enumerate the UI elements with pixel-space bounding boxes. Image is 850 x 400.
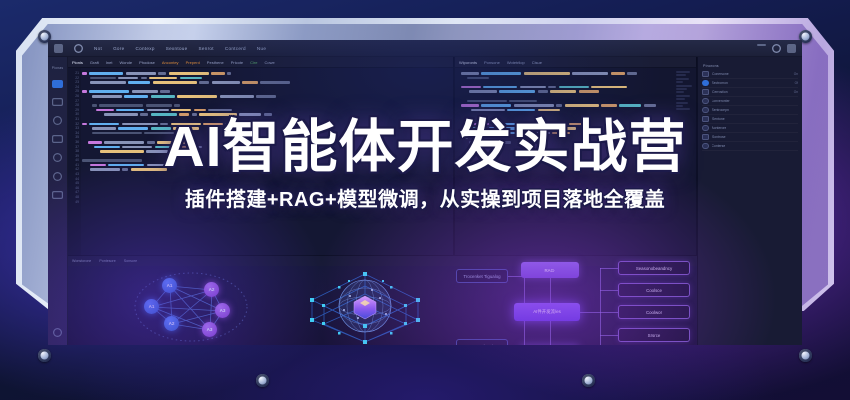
toolbar-item[interactable]: Not bbox=[94, 46, 102, 51]
flow-node-label: Coolwor bbox=[646, 310, 662, 315]
property-label: Lonveronter bbox=[712, 99, 730, 103]
toolbar-item[interactable]: Gore bbox=[113, 46, 124, 51]
flow-connector bbox=[550, 278, 551, 304]
explorer-icon[interactable] bbox=[52, 80, 63, 88]
graph-node[interactable]: A3 bbox=[215, 303, 230, 318]
page-subtitle: 插件搭建+RAG+模型微调，从实操到项目落地全覆盖 bbox=[0, 183, 850, 212]
toolbar-item[interactable]: Sexntoue bbox=[166, 46, 188, 51]
flow-connector bbox=[600, 268, 618, 269]
properties-header: Pinorons bbox=[703, 64, 798, 68]
promo-headline: AI智能体开发实战营 插件搭建+RAG+模型微调，从实操到项目落地全覆盖 bbox=[0, 118, 850, 212]
flow-node-label: RAG· bbox=[545, 268, 556, 273]
flow-node-label: Qe3 Ponbustion bbox=[466, 344, 498, 346]
cube-graphic bbox=[300, 266, 430, 345]
settings-gear-icon[interactable] bbox=[53, 328, 62, 337]
editor-tab-bar: Pionis Graft Inet Wonde Phodose Ancontey… bbox=[68, 57, 453, 68]
flow-node-label: Trocenket Tigualog bbox=[463, 274, 500, 279]
editor-tab[interactable]: Pricote bbox=[231, 60, 243, 65]
viz-tab[interactable]: Pontesore bbox=[99, 259, 115, 263]
close-icon[interactable] bbox=[787, 44, 796, 53]
flow-node-right[interactable]: Srsrce bbox=[618, 328, 690, 342]
ide-toolbar: Not Gore Contexp Sexntoue Senrot Contcer… bbox=[48, 40, 802, 57]
page-title: AI智能体开发实战营 bbox=[0, 118, 850, 176]
flow-connector bbox=[578, 312, 600, 313]
property-label: Conersone bbox=[712, 72, 729, 76]
editor-tab[interactable]: Wotetrilop bbox=[507, 60, 525, 65]
editor-tab[interactable]: Inet bbox=[106, 60, 113, 65]
search-icon[interactable] bbox=[52, 98, 63, 106]
graph-node-label: A1 bbox=[149, 304, 155, 309]
flow-node-right[interactable]: Coolwor bbox=[618, 305, 690, 319]
back-arrow-icon[interactable] bbox=[54, 44, 63, 53]
bezel-rivet bbox=[256, 374, 269, 387]
property-row[interactable]: Conersone On bbox=[702, 70, 798, 79]
graph-node-label: A2 bbox=[169, 321, 175, 326]
editor-tab[interactable]: Cisue bbox=[532, 60, 542, 65]
graph-node[interactable]: A2 bbox=[204, 282, 219, 297]
editor-tab[interactable]: Wiporonts bbox=[459, 60, 477, 65]
toolbar-item[interactable]: Nue bbox=[257, 46, 266, 51]
flow-connector bbox=[600, 312, 618, 313]
rail-label: Pionas bbox=[52, 66, 64, 70]
flow-connector bbox=[600, 268, 601, 345]
isometric-cube-visualization bbox=[300, 266, 430, 345]
flow-connector bbox=[550, 321, 551, 345]
editor-tab[interactable]: Pesthene bbox=[207, 60, 224, 65]
graph-node-label: A3 bbox=[220, 308, 226, 313]
flow-node-right[interactable]: Coolsce bbox=[618, 283, 690, 297]
property-row[interactable]: Cerrostion On bbox=[702, 88, 798, 97]
flow-connector bbox=[600, 335, 618, 336]
maximize-icon[interactable] bbox=[772, 44, 781, 53]
flow-connector bbox=[600, 290, 618, 291]
toolbar-item[interactable]: Contcerd bbox=[225, 46, 246, 51]
graph-node[interactable]: A3 bbox=[202, 322, 217, 337]
flow-node-center[interactable]: AI件开发流/es bbox=[514, 303, 580, 321]
flow-node-label: Coolsce bbox=[646, 288, 662, 293]
viz-tab[interactable]: Wonstorone bbox=[72, 259, 91, 263]
property-row[interactable]: Lonveronter bbox=[702, 97, 798, 106]
graph-node[interactable]: A1 bbox=[144, 299, 159, 314]
bezel-rivet bbox=[582, 374, 595, 387]
editor-tab-bar-right: Wiporonts Ponsone Wotetrilop Cisue bbox=[455, 57, 696, 68]
checkbox-icon[interactable] bbox=[702, 98, 709, 105]
property-value: Of bbox=[795, 81, 798, 85]
flow-node-left-bottom[interactable]: Qe3 Ponbustion bbox=[456, 339, 508, 345]
property-value: On bbox=[794, 72, 798, 76]
flow-node-rag[interactable]: RAG· bbox=[521, 262, 579, 278]
agent-network-graph: A1 A2 A3 A3 A2 A1 bbox=[126, 270, 256, 344]
property-label: Sectromon bbox=[712, 81, 728, 85]
property-row[interactable]: Sentrocepn bbox=[702, 106, 798, 115]
graph-node[interactable]: A1 bbox=[162, 278, 177, 293]
graph-node-label: A2 bbox=[209, 287, 215, 292]
editor-tab[interactable]: Cire bbox=[250, 60, 257, 65]
editor-tab[interactable]: Preperd bbox=[186, 60, 200, 65]
editor-tab[interactable]: Wonde bbox=[119, 60, 132, 65]
editor-tab[interactable]: Ponsone bbox=[484, 60, 500, 65]
editor-tab[interactable]: Pionis bbox=[72, 60, 83, 65]
flow-node-label: Srsrce bbox=[648, 333, 661, 338]
bezel-rivet bbox=[799, 349, 812, 362]
home-icon[interactable] bbox=[74, 44, 83, 53]
property-value: On bbox=[794, 90, 798, 94]
editor-tab[interactable]: Graft bbox=[90, 60, 99, 65]
graph-node-label: A3 bbox=[207, 327, 213, 332]
graph-node[interactable]: A2 bbox=[164, 316, 179, 331]
property-label: Cerrostion bbox=[712, 90, 728, 94]
architecture-flow-diagram: RAG· AI件开发流/es Stace Trocenket Tigualog … bbox=[458, 258, 796, 343]
bezel-rivet bbox=[38, 349, 51, 362]
flow-node-label: Seasonobeandncy bbox=[636, 266, 672, 271]
graph-node-label: A1 bbox=[167, 283, 173, 288]
toolbar-item[interactable]: Senrot bbox=[199, 46, 214, 51]
flow-node-right[interactable]: Seasonobeandncy bbox=[618, 261, 690, 275]
minimize-icon[interactable] bbox=[757, 44, 766, 46]
viz-tab[interactable]: Sonsore bbox=[124, 259, 137, 263]
flow-node-label: AI件开发流/es bbox=[533, 309, 561, 315]
editor-tab[interactable]: Ancontey bbox=[162, 60, 179, 65]
toolbar-item[interactable]: Contexp bbox=[135, 46, 154, 51]
flow-node-left-top[interactable]: Trocenket Tigualog bbox=[456, 269, 508, 283]
property-label: Sentrocepn bbox=[712, 108, 729, 112]
editor-tab[interactable]: Phodose bbox=[139, 60, 155, 65]
checkbox-icon[interactable] bbox=[702, 107, 709, 114]
toggle-icon[interactable] bbox=[702, 89, 709, 95]
radio-icon[interactable] bbox=[702, 80, 709, 87]
property-row[interactable]: Sectromon Of bbox=[702, 79, 798, 88]
toggle-icon[interactable] bbox=[702, 71, 709, 77]
editor-tab[interactable]: Cowe bbox=[265, 60, 275, 65]
